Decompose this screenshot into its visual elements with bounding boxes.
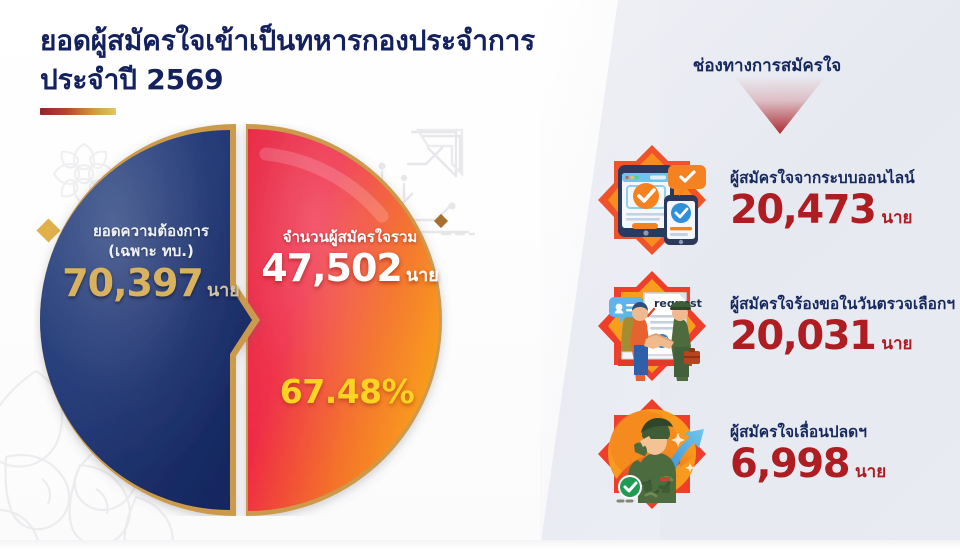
channel-value-request-unit: นาย	[881, 334, 912, 354]
channel-label-online: ผู้สมัครใจจากระบบออนไลน์	[730, 168, 960, 188]
bottom-strip	[0, 540, 960, 549]
page-title: ยอดผู้สมัครใจเข้าเป็นทหารกองประจำการ ประ…	[40, 22, 600, 115]
channel-value-online-unit: นาย	[881, 208, 912, 228]
page-title-line1: ยอดผู้สมัครใจเข้าเป็นทหารกองประจำการ	[40, 22, 600, 61]
channel-text-request: ผู้สมัครใจร้องขอในวันตรวจเลือกฯ 20,031นา…	[726, 294, 960, 358]
channel-item-online: ผู้สมัครใจจากระบบออนไลน์ 20,473นาย	[578, 136, 960, 264]
channel-value-request: 20,031นาย	[730, 315, 960, 358]
channel-text-online: ผู้สมัครใจจากระบบออนไลน์ 20,473นาย	[726, 168, 960, 232]
pie-chart	[34, 124, 454, 516]
saluting-soldier-icon	[578, 391, 726, 517]
channel-item-postpone: ผู้สมัครใจเลื่อนปลดฯ 6,998นาย	[578, 390, 960, 518]
pie-slice-requirement	[40, 124, 260, 516]
handshake-request-icon: request	[578, 263, 726, 389]
channel-value-postpone-number: 6,998	[730, 441, 849, 487]
channel-value-request-number: 20,031	[730, 313, 875, 359]
title-accent-bar	[40, 108, 116, 115]
channel-text-postpone: ผู้สมัครใจเลื่อนปลดฯ 6,998นาย	[726, 422, 960, 486]
channel-value-online-number: 20,473	[730, 187, 875, 233]
channel-value-postpone: 6,998นาย	[730, 443, 960, 486]
channel-label-request: ผู้สมัครใจร้องขอในวันตรวจเลือกฯ	[730, 294, 960, 314]
channel-value-postpone-unit: นาย	[855, 462, 886, 482]
channels-heading: ช่องทางการสมัครใจ	[592, 52, 942, 79]
channel-label-postpone: ผู้สมัครใจเลื่อนปลดฯ	[730, 422, 960, 442]
online-registration-icon	[578, 137, 726, 263]
channel-value-online: 20,473นาย	[730, 189, 960, 232]
pie-slice-volunteers	[246, 124, 442, 516]
infographic-root: ยอดผู้สมัครใจเข้าเป็นทหารกองประจำการ ประ…	[0, 0, 960, 549]
page-title-line2: ประจำปี 2569	[40, 61, 600, 100]
channel-item-request: request	[578, 262, 960, 390]
